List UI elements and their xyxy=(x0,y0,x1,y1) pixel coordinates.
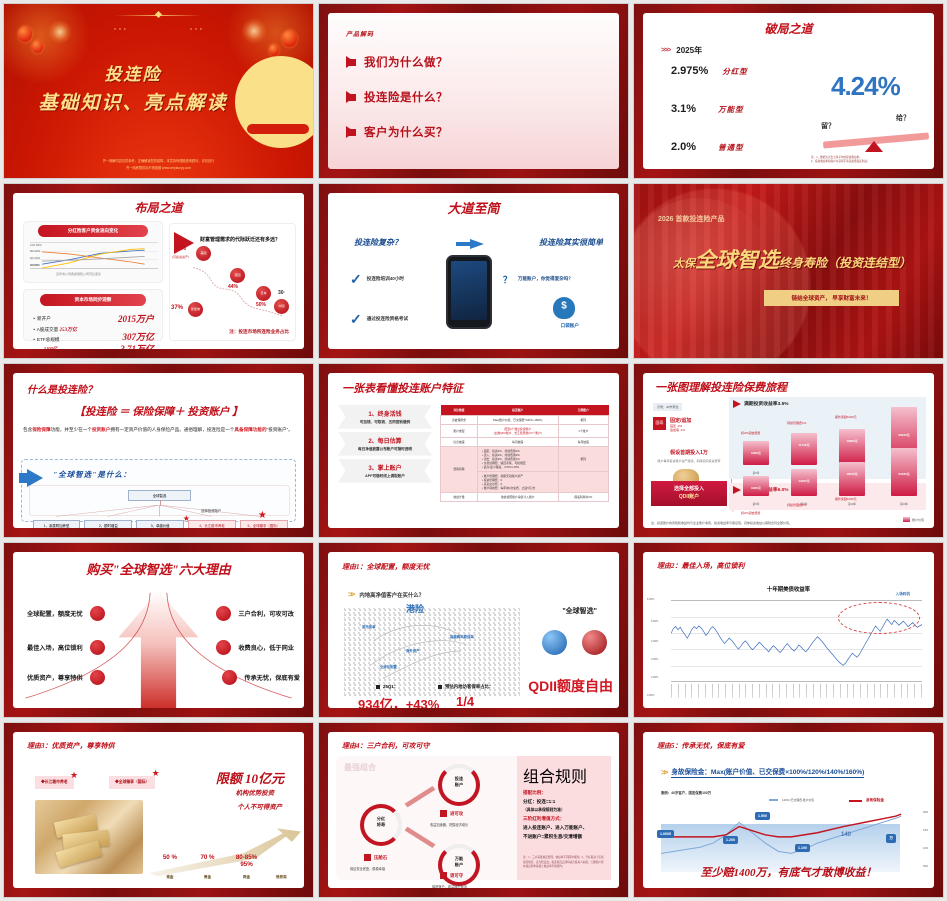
xtick xyxy=(820,684,821,698)
cover-footer-line2: 齐一网底限供标不得用做 www.verylaoryy.com xyxy=(4,165,313,172)
journey-panel: 财富管理需求的代际跃迁还有多远？ 美国 50% (可投资资产) 英国 44% 日… xyxy=(169,223,296,341)
table-cell: 账户类型 xyxy=(441,424,478,437)
bar-label: 16646元 xyxy=(839,472,865,476)
bullet-dot-icon xyxy=(216,606,231,621)
banner-title: 太保全球智选终身寿险（投资连结型） xyxy=(644,244,940,274)
rule-text: （具体以承保规则为准） xyxy=(523,808,605,813)
chart-panel-1: 分红险客户资金流向变化 100.00% 80.00% 60.00 xyxy=(23,221,163,283)
footnote: 注：投连账户的风险和收益均与全业账户净值、投资收益率与保证值，具体投资收益以保险… xyxy=(651,521,926,525)
chart-annotation: 入场时机 xyxy=(896,592,910,597)
bag-label: 口袋账户 xyxy=(561,323,579,329)
table-cell: 相同 xyxy=(558,446,608,471)
bar-label: 11736元 xyxy=(791,443,817,447)
slide-thumbnail-15[interactable]: 理由5：传承无忧，保底有爱 >> 身故保险金：Max(账户价值、已交保费×100… xyxy=(633,722,944,898)
rate-value: 2.0% xyxy=(671,141,696,153)
connector-arrows xyxy=(336,756,522,880)
ytick: 0.00% xyxy=(647,694,654,697)
legend-top-sub: 收益加速器，把握经济增长 xyxy=(430,822,468,827)
legend-label: 进可攻 xyxy=(450,811,463,817)
slide-thumbnail-10[interactable]: 购买"全球智选"六大理由 全球配置，额度无忧 最佳入场，高位锁利 优质资产，尊享… xyxy=(3,542,314,718)
map-center-label: 港险 xyxy=(406,602,424,615)
chevron-right-icon: >> xyxy=(348,590,353,599)
legend-bottom-sub: 保底账户，收益随行就市 xyxy=(432,884,467,888)
journey-node: 中国 xyxy=(274,299,289,314)
table-header: 万能账户 xyxy=(558,405,608,416)
marker-label: 1.0005 xyxy=(657,830,674,838)
xtick xyxy=(833,684,834,698)
rate-value: 2.975% xyxy=(671,65,708,77)
left-point: 通过投连险资格考试 xyxy=(367,316,408,322)
right-big-label: QDII额度自由 xyxy=(528,676,613,696)
rules-title: 组合规则 xyxy=(523,769,587,786)
table-cell: 1个账户 xyxy=(558,424,608,437)
question-label: 我们为什么做？ xyxy=(364,54,448,70)
xtick xyxy=(678,684,679,698)
legend-label: 140%×已交保费-账户价值 xyxy=(782,798,814,802)
map-label: 海外资产 xyxy=(406,648,420,653)
bar-category: 两金 xyxy=(228,875,265,880)
bar-label: 9466元 xyxy=(743,486,769,490)
bar xyxy=(839,462,865,496)
bullet-dot-icon xyxy=(216,640,231,655)
lantern-icon xyxy=(269,44,279,56)
ytick: 200 xyxy=(923,810,928,814)
right-heading: 投连险其实很简单 xyxy=(539,237,603,248)
journey-footnote: 注：投连市场所连险业务占比 xyxy=(229,329,289,335)
rate-value: 3.1% xyxy=(671,103,696,115)
xtick xyxy=(793,684,794,698)
question-mark-icon: ？ xyxy=(503,273,512,286)
node-pct: 50% xyxy=(256,302,266,308)
step-desc: APP可随时线上调取账户 xyxy=(340,474,430,479)
marker-label: 1.100 xyxy=(795,844,810,852)
line-chart: 100.00% 80.00% 60.00% 40.00% 0.00% 近年寿公司… xyxy=(30,242,158,277)
legend-top: 进可攻 xyxy=(440,810,463,817)
diagram-box: 4、长江稳市养老 xyxy=(188,520,236,529)
rule-label: 三阶红利增值方式： xyxy=(523,816,605,822)
journey-node: 新加坡 xyxy=(188,302,203,317)
page-title: 一张图理解投连险保费旅程 xyxy=(643,373,934,395)
xtick xyxy=(759,684,760,698)
slide-thumbnail-14[interactable]: 理由4：三户合利，可攻可守 最强组合 分红 将寿 投连 账户 万能 账户 xyxy=(318,722,629,898)
left-mid: 假设首期投入1万 xyxy=(653,449,725,456)
asset-tag: ◆全球臻享（国际） xyxy=(109,776,155,789)
year-label: 2025年 xyxy=(676,45,702,56)
bar-value: 80-85% xyxy=(228,854,265,861)
annotation: 额外奖励1000元 xyxy=(835,415,857,419)
bar-label: 9466元 xyxy=(743,451,769,455)
page-title: 一张表看懂投连账户特征 xyxy=(328,373,619,396)
page-title: 理由2：最佳入场，高位锁利 xyxy=(643,552,934,571)
stat-label: 预估内地访客保单占比： xyxy=(445,684,493,690)
description-paragraph: 包含保险保障功能，并至少在一个投资账户拥有一定资产价值的人身保险产品。通俗理解，… xyxy=(13,426,304,434)
node-pct: 50% xyxy=(174,246,186,252)
xtick xyxy=(874,684,875,698)
diagram-box: 5、全球臻享（国际） xyxy=(240,520,288,529)
node-pct: 37% xyxy=(171,305,183,311)
table-cell: 配置2个独立投资账户 (主推QDII账户、长江稳周账户2个账户) xyxy=(477,424,558,437)
xtick xyxy=(813,684,814,698)
money-bag-icon: $ xyxy=(553,297,575,319)
annotation: 扣2%初始费用 xyxy=(741,431,760,435)
marker-label: 1.200 xyxy=(723,836,738,844)
xtick xyxy=(914,684,915,698)
legend-square xyxy=(364,854,371,861)
bar-value: 95% xyxy=(228,861,265,868)
step-item: 2、每日估算 每日净值披露公布账户可随时透明 xyxy=(338,432,432,456)
bullet-item: ‣ A股成交量 253万亿 xyxy=(33,326,77,333)
cover-title: 投连险 基础知识、亮点解读 xyxy=(28,60,238,115)
xtick xyxy=(779,684,780,698)
rate-type: 普通型 xyxy=(718,142,744,153)
step-title: 3、掌上账户 xyxy=(340,463,430,472)
right-title: "全球智选" xyxy=(562,606,597,616)
slide-thumbnail-2[interactable]: 产品解码 我们为什么做？ 投连险是什么？ 客户为什么买？ xyxy=(318,3,629,179)
xtick xyxy=(853,684,854,698)
bar-label: 12882元 xyxy=(839,439,865,443)
diagram-subtitle: "全球智选"是什么： xyxy=(53,469,131,480)
stat-value: 3.71万亿 xyxy=(120,342,154,349)
page-title: 理由5：传承无忧，保底有爱 xyxy=(643,732,934,751)
xtick xyxy=(840,684,841,698)
page-title: 理由4：三户合利，可攻可守 xyxy=(328,732,619,751)
slide-thumbnail-8[interactable]: 一张表看懂投连账户特征 1、终身活钱 可加钱、可取钱、五同官别缴例 2、每日估算… xyxy=(318,363,629,539)
xtick-row xyxy=(671,684,922,702)
xtick xyxy=(671,684,672,698)
table-cell: 收益计量 xyxy=(441,492,478,501)
left-tag: 示例：40岁男性 xyxy=(653,403,682,411)
page-title: 布局之道 xyxy=(13,193,304,216)
rate-type: 分红型 xyxy=(722,66,748,77)
table-row: 身故保险金 Max(账户价值、已交保费*100%~160%) 相同 xyxy=(441,415,609,424)
xtick xyxy=(772,684,773,698)
table-row: 信息披露 每月披露 每月披露 xyxy=(441,437,609,446)
asset-tag: ◆长江稳市养老 xyxy=(35,776,74,789)
table-cell: 信息披露 xyxy=(441,437,478,446)
stat-label: 25Q1： xyxy=(383,684,398,690)
left-head: 固定/追加 xyxy=(670,417,691,424)
etf-small: 5300亿 xyxy=(44,346,77,349)
xtick xyxy=(739,684,740,698)
table-cell: 每月披露 xyxy=(477,437,558,446)
bottom-slogan: 至少赔1400万，有底气才敢博收益！ xyxy=(643,864,934,880)
bar xyxy=(791,433,817,465)
xtick xyxy=(860,684,861,698)
panel-caption: 分红险客户资金流向变化 xyxy=(38,225,148,237)
left-point: 投连险培训40小时 xyxy=(367,276,404,282)
page-title: 理由3：优质资产，尊享特供 xyxy=(13,732,304,751)
cta-box: 选择全部投入 QDII账户 xyxy=(651,481,727,506)
left-mid-sub: 账户每年投资账户资产持续，扣除实际投资费率 xyxy=(651,459,727,463)
cover-footer: 齐一网解内容仅供参考，正确解读您的保障，本员持有理赔咨询顾问，请勿自行 齐一网底… xyxy=(4,158,313,172)
arrow-right-icon xyxy=(346,126,355,138)
bar-category: 黄金 xyxy=(191,875,225,880)
cta-line2: QDII账户 xyxy=(653,494,725,502)
cta-line1: 选择全部投入 xyxy=(653,486,725,494)
marker-label: 1.500 xyxy=(755,812,770,820)
seesaw-fulcrum-icon xyxy=(865,141,883,152)
rules-note: 注：1、三户采集规定管理，收益率不同固单规则；2、升红取决于实际运营情况，是为稳… xyxy=(523,856,605,869)
xtick xyxy=(921,684,922,698)
legend-bottom: 退可守 xyxy=(440,872,463,879)
arrow-shaft xyxy=(456,242,470,246)
slide-thumbnail-12[interactable]: 理由2：最佳入场，高位锁利 十年期美债收益率 6.00% 5.00% 4.00%… xyxy=(633,542,944,718)
chevron-right-icon: >> xyxy=(661,768,666,777)
rules-panel: 组合规则 搭配比例： 分红：投连=1:1 （具体以承保规则为准） 三阶红利增值方… xyxy=(517,756,611,880)
xtick xyxy=(894,684,895,698)
slide-thumbnail-4[interactable]: 布局之道 分红险客户资金流向变化 100.00% 80 xyxy=(3,183,314,359)
xtick xyxy=(901,684,902,698)
firework-icon xyxy=(48,20,72,44)
node-sub: (可投资资产) xyxy=(172,255,189,259)
cover-title-line1: 投连险 xyxy=(28,60,238,85)
annotation: 持续管理费1% xyxy=(787,421,806,425)
xtick xyxy=(732,684,733,698)
star-icon: ★ xyxy=(152,768,160,778)
banner-title-a: 太保 xyxy=(673,258,695,270)
xtick xyxy=(867,684,868,698)
lantern-icon xyxy=(32,40,43,53)
banner-title-b: 全球智选 xyxy=(695,248,779,272)
chart-title: 十年期美债收益率 xyxy=(643,585,934,593)
node-extra: 30· xyxy=(278,290,285,296)
panel-caption: 资本市场同步观察 xyxy=(40,294,146,306)
star-icon: ★ xyxy=(258,510,267,521)
banner-kicker: 2026 首款投连险产品 xyxy=(658,214,725,224)
stat-value: 1/4 xyxy=(456,694,474,708)
diagram-box: 2、额时增益 xyxy=(84,520,132,529)
stat-value: 934亿，+43% xyxy=(358,694,439,708)
ytick: 5.00% xyxy=(651,620,658,623)
arrow-shaft xyxy=(19,473,31,483)
rule-label: 搭配比例： xyxy=(523,790,605,796)
step-title: 2、每日估算 xyxy=(340,436,430,445)
product-decode-kicker: 产品解码 xyxy=(346,29,619,38)
reason-label: 传承无忧，保底有爱 xyxy=(244,673,300,682)
footnote: 注：1、数据为过去五年平均的投资收益率； 2、投资收益率和客户可获得不承诺最低保… xyxy=(811,156,926,164)
limit-sub2: 个人不可得资产 xyxy=(237,802,282,811)
legend-label: 身故保险金 xyxy=(866,798,884,803)
question-label: 内地高净值客户在买什么？ xyxy=(359,591,424,599)
bar-axis-label: 第10年 xyxy=(839,502,865,506)
slide-thumbnail-13[interactable]: 理由3：优质资产，尊享特供 ◆长江稳市养老 ★ ◆全球臻享（国际） ★ 限额 1… xyxy=(3,722,314,898)
table-cell: • 固定：投资2%、持续费用1% • 流入：投资2%、持续费用2% • 流出：投… xyxy=(477,446,558,471)
slide-thumbnail-11[interactable]: 理由1：全球配置，额度无忧 >> 内地高净值客户在买什么？ 港险 美元保单 高端… xyxy=(318,542,629,718)
xtick xyxy=(806,684,807,698)
limit-sub1: 机构优势投资 xyxy=(236,788,274,797)
rule-text: 分红：投连=1:1 xyxy=(523,799,605,805)
bar-category: 债券类 xyxy=(269,875,294,880)
orb-red-icon xyxy=(582,630,607,655)
table-cell: 相同 xyxy=(558,415,608,424)
chart-lines xyxy=(661,810,903,872)
slide-thumbnail-1[interactable]: *** *** 投连险 基础知识、亮点解读 齐一网解内容仅供参考，正确解读您的保… xyxy=(3,3,314,179)
xtick xyxy=(698,684,699,698)
chevron-right-icon: >>> xyxy=(661,47,670,54)
page-title: 理由1：全球配置，额度无忧 xyxy=(328,552,619,572)
table-row: 费用扣除 • 固定：投资2%、持续费用1% • 流入：投资2%、持续费用2% •… xyxy=(441,446,609,471)
marker-label: 140 xyxy=(841,832,851,838)
cover-title-line2: 基础知识、亮点解读 xyxy=(28,88,238,115)
reason-label: 三户合利，可攻可改 xyxy=(238,609,294,618)
stars-right: *** xyxy=(190,28,205,34)
step-desc: 可加钱、可取钱、五同官别缴例 xyxy=(340,420,430,425)
xtick xyxy=(766,684,767,698)
bar-label: 13187元 xyxy=(791,479,817,483)
table-cell: 收益按照账户净值计入账户 xyxy=(477,492,558,501)
step-item: 1、终身活钱 可加钱、可取钱、五同官别缴例 xyxy=(338,405,432,429)
legend-square xyxy=(438,685,442,689)
question-row[interactable]: 我们为什么做？ xyxy=(346,54,619,70)
xtick xyxy=(847,684,848,698)
slide-thumbnail-3[interactable]: 破局之道 >>> 2025年 2.975% 分红型 3.1% 万能型 2.0% … xyxy=(633,3,944,179)
arrow-right-icon xyxy=(733,400,741,408)
question-row[interactable]: 投连险是什么？ xyxy=(346,89,619,105)
phone-illustration xyxy=(446,255,492,329)
slide-thumbnail-6[interactable]: 2026 首款投连险产品 太保全球智选终身寿险（投资连结型） 链结全球资产， 早… xyxy=(633,183,944,359)
table-cell: 费用扣除 xyxy=(441,446,478,492)
reason-label: 全球配置，额度无忧 xyxy=(27,609,83,618)
combination-card: 最强组合 分红 将寿 投连 账户 万能 账户 压舱石 保证安全底盘，稳 xyxy=(336,756,522,880)
diagram-right-label: 选择投资账户 xyxy=(201,508,221,513)
comparison-table: 对比维度 投连账户 万能账户 身故保险金 Max(账户价值、已交保费*100%~… xyxy=(440,405,609,519)
stars-left: *** xyxy=(114,28,129,34)
seesaw-right-label: 给？ xyxy=(896,113,910,123)
limit-title: 限额 10亿元 xyxy=(216,768,284,787)
formula-label: 身故保险金：Max(账户价值、已交保费×100%/120%/140%/160%) xyxy=(671,766,864,778)
firework-icon xyxy=(241,18,267,44)
chart-panel-2: 资本市场同步观察 ‣ 新开户 ‣ A股成交量 253万亿 ‣ ETF总规模 53… xyxy=(23,289,163,341)
marker-label: 万 xyxy=(886,834,896,843)
bullet-dot-icon xyxy=(90,640,105,655)
arrow-right-icon xyxy=(733,486,741,494)
step-title: 1、终身活钱 xyxy=(340,409,430,418)
bullet-dot-icon xyxy=(90,670,105,685)
map-flow-lines xyxy=(344,608,520,696)
legend-square xyxy=(376,685,380,689)
xtick xyxy=(712,684,713,698)
seesaw-left-label: 留？ xyxy=(821,121,835,131)
arrow-right-icon xyxy=(346,91,355,103)
ytick: 3.00% xyxy=(651,658,658,661)
slide-thumbnail-5[interactable]: 大道至简 投连险复杂？ 投连险其实很简单 ✓ 投连险培训40小时 ✓ 通过投连险… xyxy=(318,183,629,359)
xtick xyxy=(786,684,787,698)
xtick xyxy=(691,684,692,698)
page-title: 购买"全球智选"六大理由 xyxy=(13,552,304,578)
xtick xyxy=(799,684,800,698)
chart-panel-b: 满期投资收益率6.0% 9466元 第5年 13187元 第8年 16646元 … xyxy=(729,483,926,511)
table-cell: 保底利率约1% xyxy=(558,492,608,501)
wave-decoration xyxy=(4,116,313,156)
xtick xyxy=(826,684,827,698)
ytick: 100 xyxy=(923,846,928,850)
arrow-right-icon xyxy=(470,239,484,249)
bar-label: 25632元 xyxy=(891,433,917,437)
journey-node: 日本 xyxy=(256,286,271,301)
xtick xyxy=(752,684,753,698)
star-icon: ★ xyxy=(70,770,78,780)
reason-label: 最佳入场，高位锁利 xyxy=(27,643,83,652)
banner-title-c: 终身寿险（投资连结型） xyxy=(779,256,911,270)
xtick xyxy=(725,684,726,698)
slide-thumbnail-9[interactable]: 一张图理解投连险保费旅程 示例：40岁男性 国寿 固定/追加 固定 -2% 追加… xyxy=(633,363,944,539)
check-icon: ✓ xyxy=(350,271,362,288)
bar-axis-label: 第5年 xyxy=(743,471,769,475)
xtick xyxy=(745,684,746,698)
question-row[interactable]: 客户为什么买？ xyxy=(346,124,619,140)
page-title: 什么是投连险？ xyxy=(13,373,304,396)
bar-category: 现金 xyxy=(153,875,187,880)
diagram-box: 3、卓越价值 xyxy=(136,520,184,529)
banner-ribbon: 链结全球资产， 早享财富未来！ xyxy=(764,290,899,306)
annotation: 持续管理费1% xyxy=(787,503,806,507)
ytick: 4.00% xyxy=(651,640,658,643)
journey-node: 美国 xyxy=(196,246,211,261)
legend-center: 压舱石 xyxy=(364,854,387,861)
map-label: 高端两年期保单 xyxy=(450,634,474,639)
table-header-row: 对比维度 投连账户 万能账户 xyxy=(441,405,609,416)
journey-node: 英国 xyxy=(230,268,245,283)
brand-badge: 国寿 xyxy=(653,417,666,430)
gold-bars-image xyxy=(35,800,143,874)
bullet-item: ‣ 新开户 xyxy=(33,316,77,322)
reason-label: 优质资产，尊享特供 xyxy=(27,673,83,682)
question-label: 投连险是什么？ xyxy=(364,89,448,105)
right-point: 万能账户，你觉得复杂吗？ xyxy=(518,276,573,282)
footnote-line2: 2、投资收益率和客户可获得不承诺最低保证利益； xyxy=(811,160,926,164)
left-heading: 投连险复杂？ xyxy=(354,237,402,248)
map-label: 全球化配置 xyxy=(380,664,397,669)
rule-text: 进入投连账户、进入万能账户、 xyxy=(523,825,605,831)
table-cell: Max(账户价值、已交保费*100%~160%) xyxy=(477,415,558,424)
bullet-dot-icon xyxy=(90,606,105,621)
equation: 【投连险 ＝ 保险保障＋ 投资账户 】 xyxy=(13,404,304,419)
star-icon: ★ xyxy=(183,514,190,523)
bar-axis-label: 第5年 xyxy=(743,502,769,506)
xtick xyxy=(887,684,888,698)
bar-axis-label: 第20年 xyxy=(891,502,917,506)
slide-thumbnail-7[interactable]: 什么是投连险？ 【投连险 ＝ 保险保障＋ 投资账户 】 包含保险保障功能，并至少… xyxy=(3,363,314,539)
bar-label: 53185元 xyxy=(891,472,917,476)
page-title: 破局之道 xyxy=(643,13,934,37)
map-label: 美元保单 xyxy=(362,624,376,629)
xtick xyxy=(685,684,686,698)
table-cell: 每月披露 xyxy=(558,437,608,446)
bullet-item: ‣ ETF总规模 xyxy=(33,337,77,343)
legend-label: 压舱石 xyxy=(374,855,387,861)
legend-square xyxy=(440,872,447,879)
annotation: 扣2%初始费用 xyxy=(741,511,760,515)
slide-thumbnail-grid: *** *** 投连险 基础知识、亮点解读 齐一网解内容仅供参考，正确解读您的保… xyxy=(0,0,947,901)
reason-label: 收费良心，低于同业 xyxy=(238,643,294,652)
chart-title: 满期投资收益率3.5% xyxy=(744,400,789,407)
bullet-dot-icon xyxy=(222,670,237,685)
legend-center-sub: 保证安全底盘，稳稳幸福 xyxy=(350,866,385,871)
stat-value: 2015万户 xyxy=(118,312,154,325)
step-item: 3、掌上账户 APP可随时线上调取账户 xyxy=(338,459,432,483)
xtick xyxy=(718,684,719,698)
case-note: 案例：40岁客户，固定保费100万 xyxy=(661,790,711,795)
annotation: 额外奖励1000元 xyxy=(835,497,857,501)
node-pct: 44% xyxy=(228,284,238,290)
cover-footer-line1: 齐一网解内容仅供参考，正确解读您的保障，本员持有理赔咨询顾问，请勿自行 xyxy=(4,158,313,165)
check-icon: ✓ xyxy=(350,311,362,328)
ytick: 150 xyxy=(923,828,928,832)
lantern-icon xyxy=(18,26,32,42)
rate-type: 万能型 xyxy=(718,104,744,115)
ytick: 2.00% xyxy=(651,676,658,679)
table-row: 账户类型 配置2个独立投资账户 (主推QDII账户、长江稳周账户2个账户) 1个… xyxy=(441,424,609,437)
